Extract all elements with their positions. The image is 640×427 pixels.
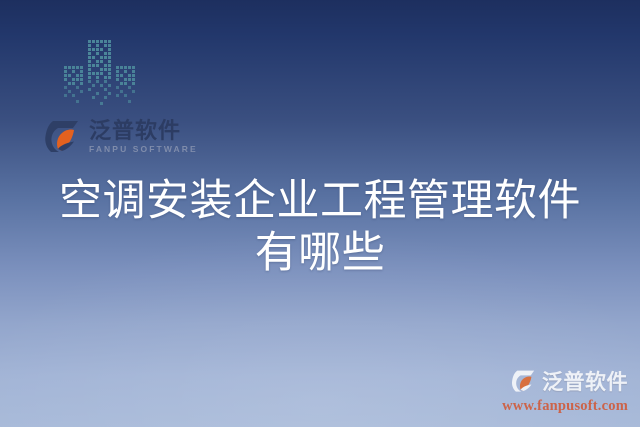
pixel-city-skyline-graphic (60, 36, 146, 114)
brand-name-en: FANPU SOFTWARE (89, 145, 198, 154)
brand-wordmark: 泛普软件 FANPU SOFTWARE (89, 120, 198, 154)
watermark-logo-mark-icon (511, 370, 537, 393)
watermark-brand-name: 泛普软件 (542, 366, 628, 396)
watermark-logo-row: 泛普软件 (502, 366, 628, 396)
page-title: 空调安装企业工程管理软件 有哪些 (0, 176, 640, 281)
watermark: 泛普软件 www.fanpusoft.com (502, 366, 628, 415)
watermark-url: www.fanpusoft.com (502, 398, 628, 415)
page-title-line-2: 有哪些 (0, 228, 640, 280)
page-title-line-1: 空调安装企业工程管理软件 (0, 176, 640, 228)
fanpu-logo-mark-icon (44, 120, 82, 154)
brand-logo: 泛普软件 FANPU SOFTWARE (44, 120, 198, 154)
poster-canvas: 泛普软件 FANPU SOFTWARE 空调安装企业工程管理软件 有哪些 泛普软… (0, 0, 640, 427)
brand-name-cn: 泛普软件 (89, 120, 198, 142)
